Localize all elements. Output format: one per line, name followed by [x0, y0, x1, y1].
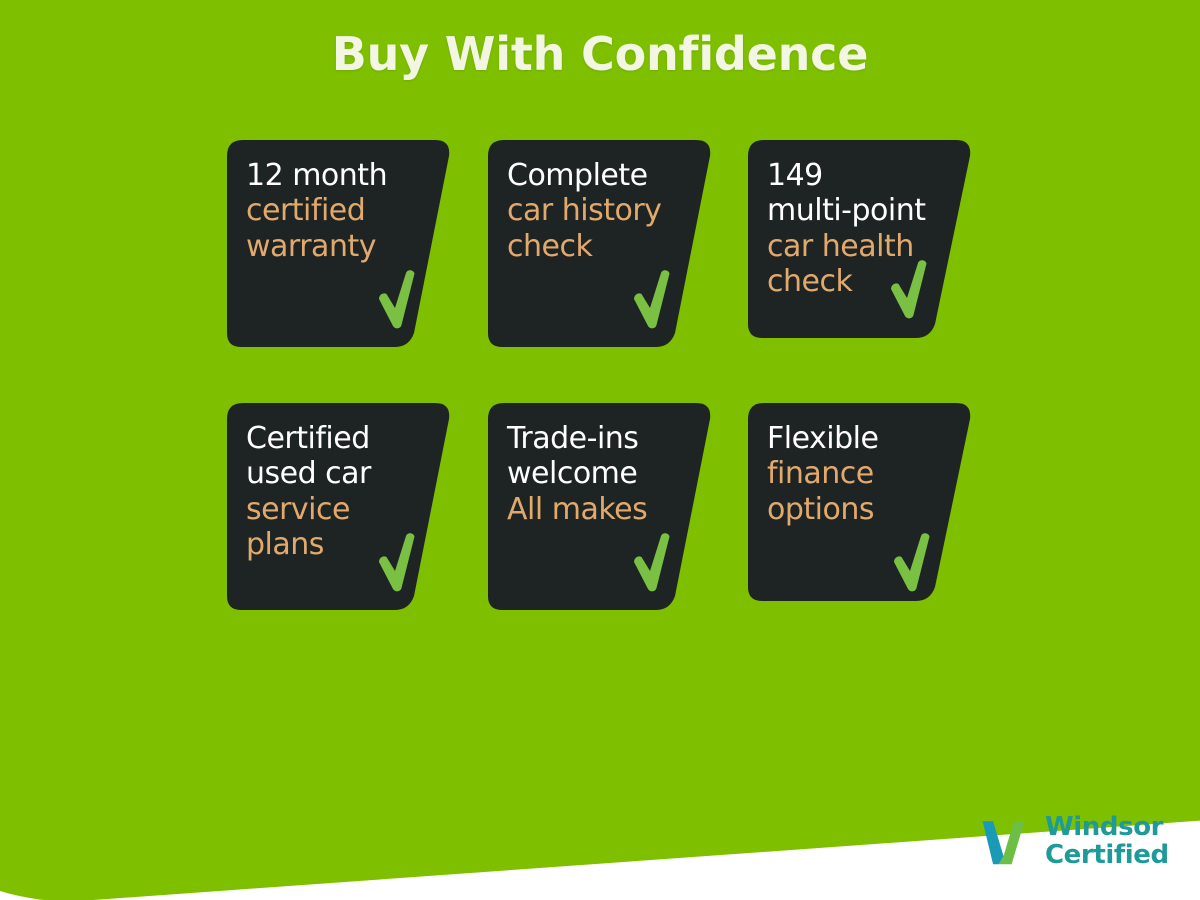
card-line: 149	[767, 158, 958, 193]
card-text-block: Completecar historycheck	[488, 140, 712, 264]
card-line: multi-point	[767, 193, 958, 228]
card-certified-used-car-service-plans[interactable]: Certifiedused carserviceplans	[227, 403, 451, 610]
card-line: Trade-ins	[507, 421, 698, 456]
card-text-block: 12 monthcertifiedwarranty	[227, 140, 451, 264]
windsor-logo-text: Windsor Certified	[1045, 813, 1169, 869]
card-line: Certified	[246, 421, 437, 456]
card-line: All makes	[507, 492, 698, 527]
card-line: options	[767, 492, 958, 527]
card-text-block: Flexiblefinanceoptions	[748, 403, 972, 527]
check-mark-icon	[631, 531, 677, 593]
card-trade-ins-welcome-all-makes[interactable]: Trade-inswelcomeAll makes	[488, 403, 712, 610]
card-flexible-finance-options[interactable]: Flexiblefinanceoptions	[748, 403, 972, 601]
card-line: used car	[246, 456, 437, 491]
windsor-certified-logo[interactable]: Windsor Certified	[978, 812, 1169, 870]
check-mark-icon	[376, 531, 422, 593]
card-complete-car-history-check[interactable]: Completecar historycheck	[488, 140, 712, 347]
card-text-block: Trade-inswelcomeAll makes	[488, 403, 712, 527]
logo-text-line-1: Windsor	[1045, 813, 1169, 841]
card-text-block: 149multi-pointcar healthcheck	[748, 140, 972, 300]
card-line: finance	[767, 456, 958, 491]
check-mark-icon	[891, 531, 937, 593]
card-line: warranty	[246, 229, 437, 264]
card-149-multi-point-car-health-check[interactable]: 149multi-pointcar healthcheck	[748, 140, 972, 338]
card-12-month-certified-warranty[interactable]: 12 monthcertifiedwarranty	[227, 140, 451, 347]
card-line: car history	[507, 193, 698, 228]
poster-canvas: Buy With Confidence 12 monthcertifiedwar…	[0, 0, 1200, 900]
check-mark-icon	[376, 268, 422, 330]
card-line: Complete	[507, 158, 698, 193]
page-title: Buy With Confidence	[0, 27, 1200, 81]
feature-card-grid: 12 monthcertifiedwarrantyCompletecar his…	[227, 140, 987, 610]
card-line: 12 month	[246, 158, 437, 193]
card-line: service	[246, 492, 437, 527]
card-line: check	[507, 229, 698, 264]
check-mark-icon	[631, 268, 677, 330]
check-mark-icon	[888, 258, 934, 320]
card-line: welcome	[507, 456, 698, 491]
logo-text-line-2: Certified	[1045, 841, 1169, 869]
card-line: Flexible	[767, 421, 958, 456]
windsor-w-icon	[978, 812, 1036, 870]
card-line: certified	[246, 193, 437, 228]
